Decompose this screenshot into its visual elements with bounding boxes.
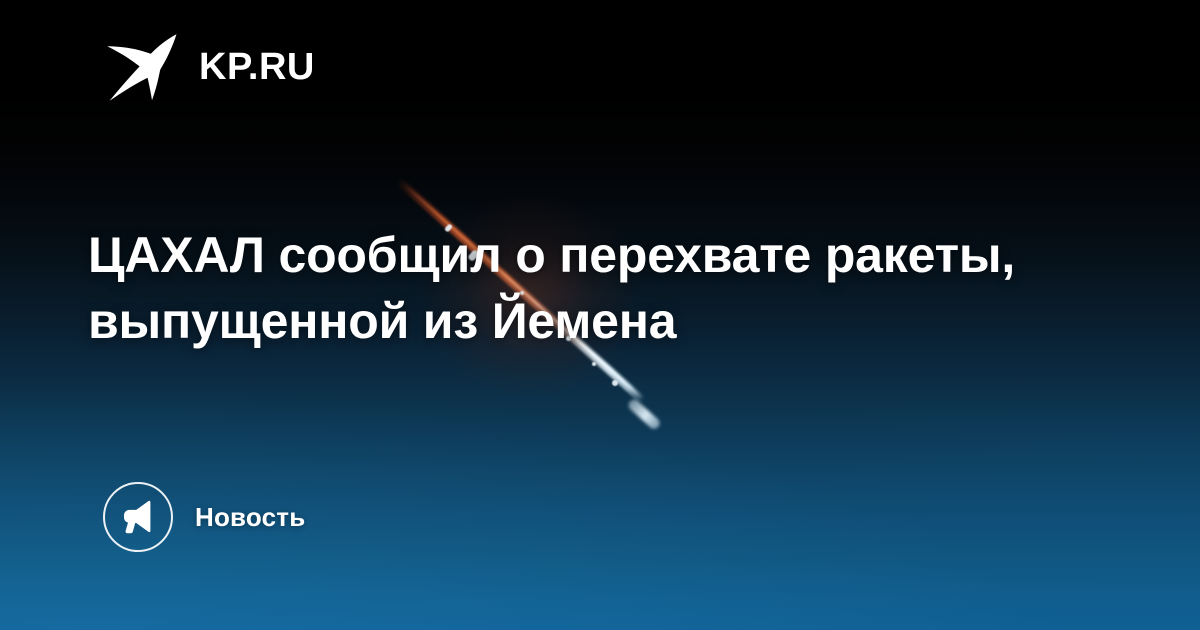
brand-logo[interactable]: KP.RU: [103, 33, 315, 101]
brand-name: KP.RU: [199, 48, 315, 86]
megaphone-icon: [103, 482, 173, 552]
swallow-bird-icon: [103, 33, 177, 101]
news-share-card: KP.RU ЦАХАЛ сообщил о перехвате ракеты, …: [0, 0, 1200, 630]
status-badge-label: Новость: [195, 504, 305, 530]
page-title: ЦАХАЛ сообщил о перехвате ракеты, выпуще…: [88, 222, 1068, 354]
status-badge[interactable]: Новость: [103, 482, 305, 552]
